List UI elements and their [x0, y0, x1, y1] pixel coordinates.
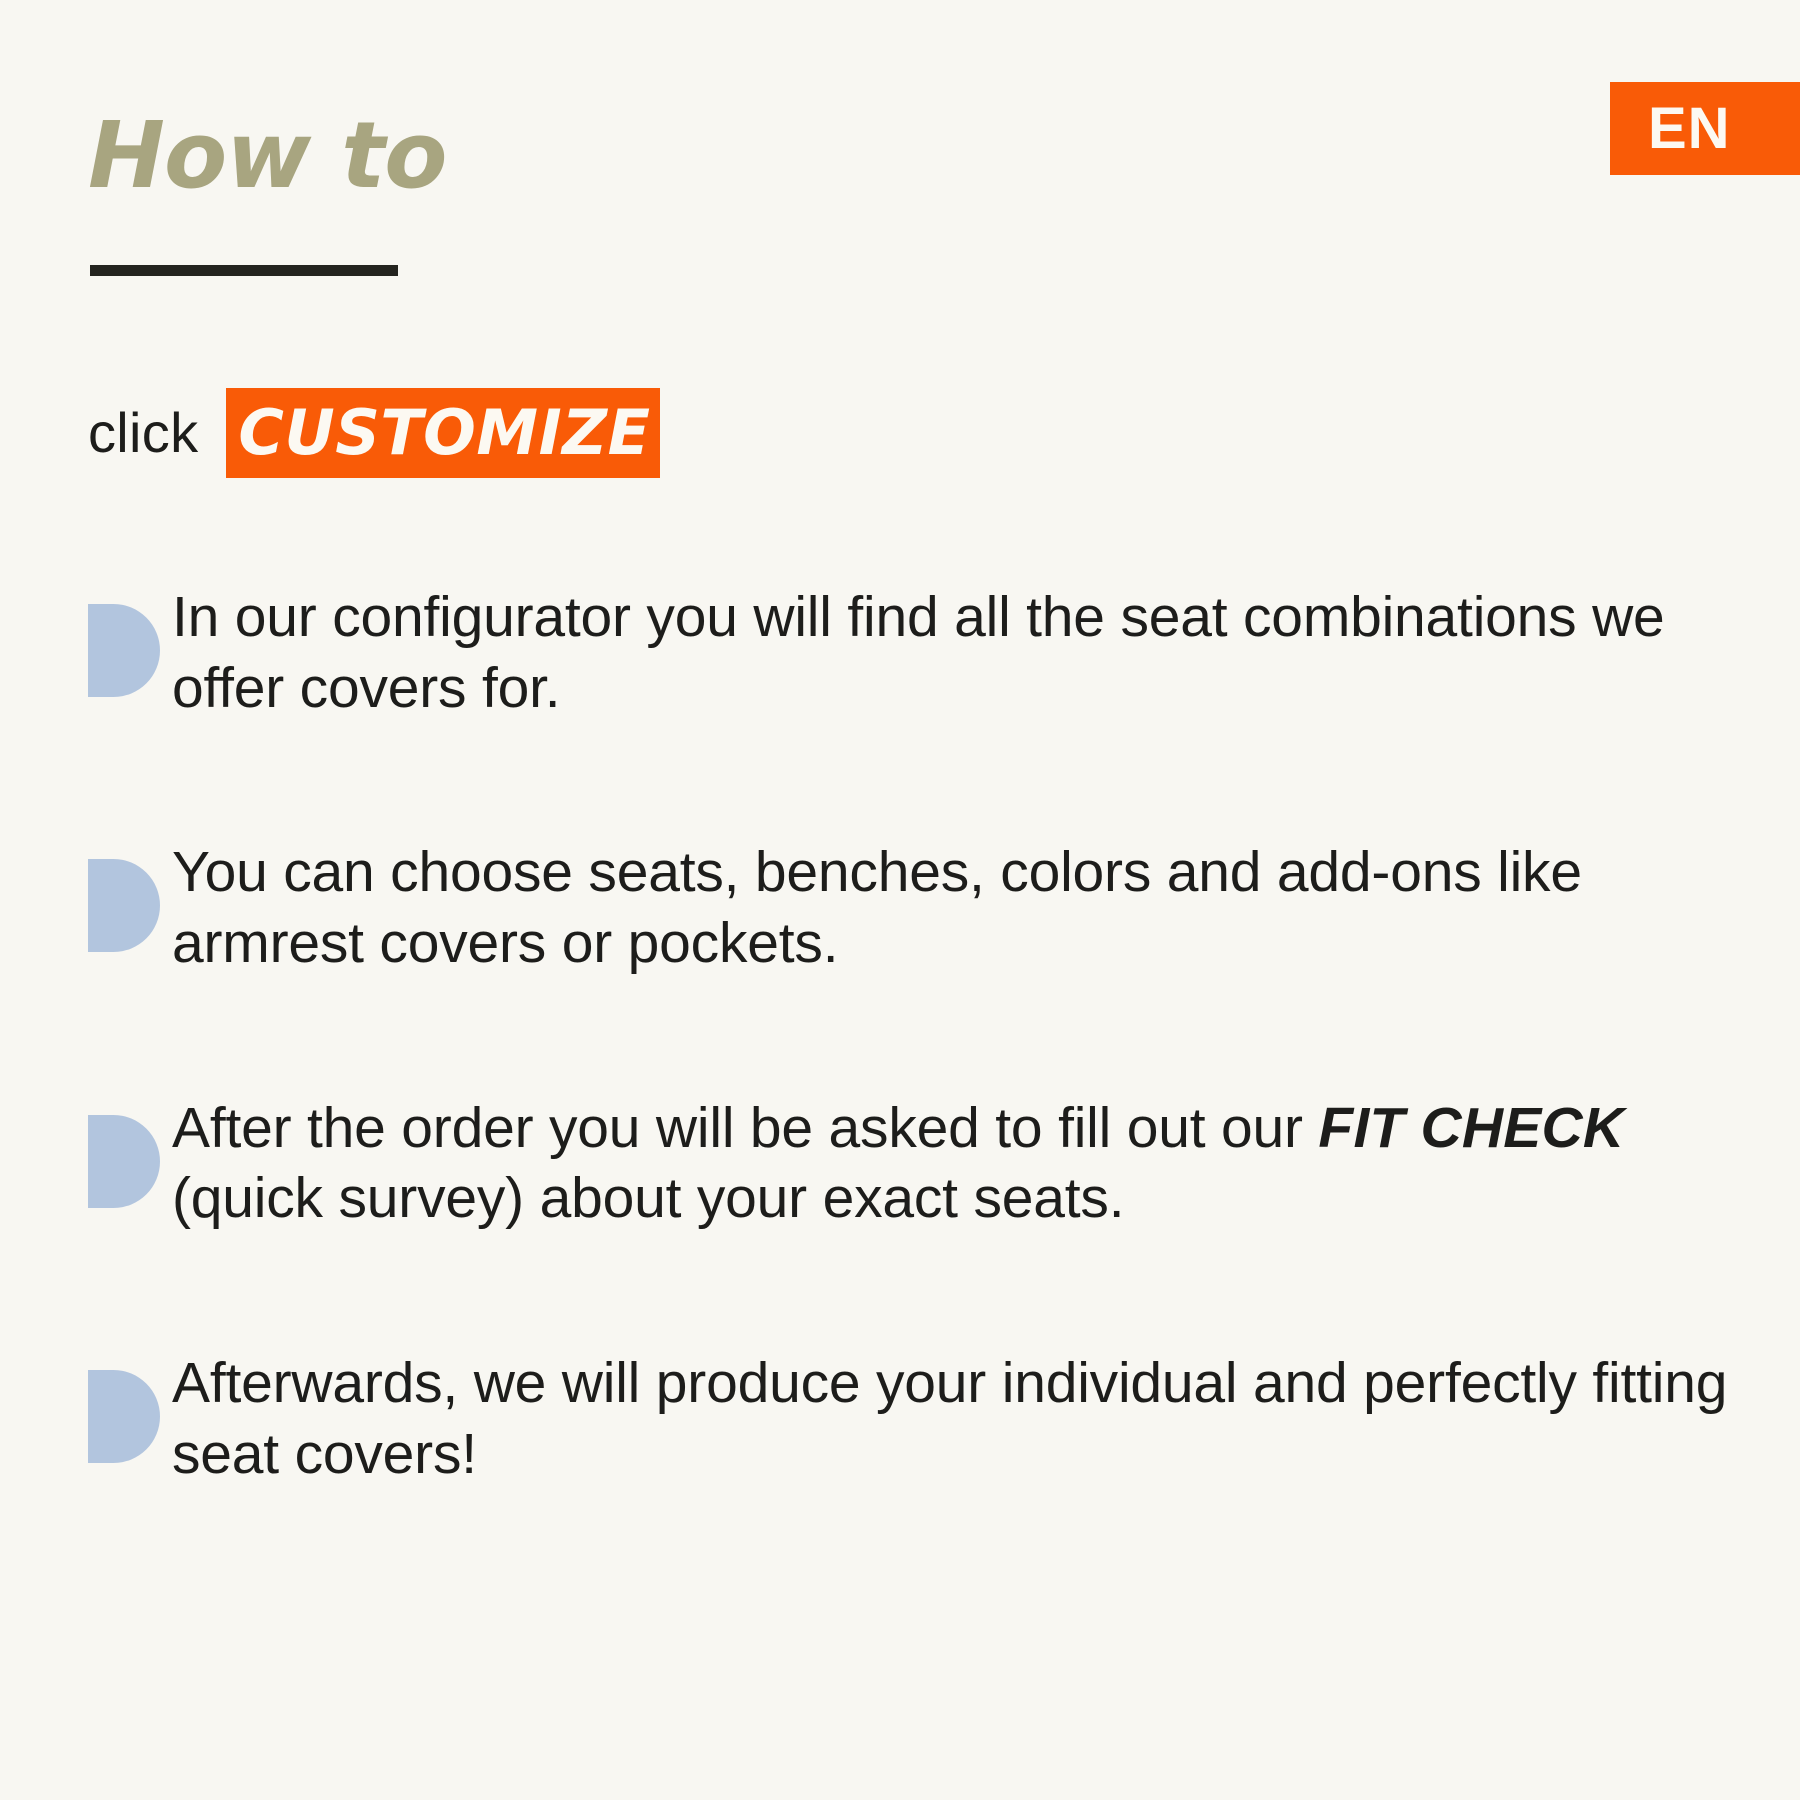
- customize-button-highlight[interactable]: CUSTOMIZE: [226, 388, 660, 478]
- d-shape-bullet-icon: [88, 1370, 160, 1463]
- list-item: Afterwards, we will produce your individ…: [88, 1348, 1728, 1489]
- list-item-text: After the order you will be asked to fil…: [172, 1093, 1728, 1234]
- page-title: How to: [88, 108, 446, 205]
- fit-check-emphasis: FIT CHECK: [1318, 1096, 1624, 1160]
- list-item: You can choose seats, benches, colors an…: [88, 837, 1728, 978]
- how-to-card: EN How to click CUSTOMIZE In our configu…: [0, 0, 1800, 1800]
- d-shape-bullet-icon: [88, 604, 160, 697]
- list-item: After the order you will be asked to fil…: [88, 1093, 1728, 1234]
- list-item-text: You can choose seats, benches, colors an…: [172, 837, 1728, 978]
- list-item-text: Afterwards, we will produce your individ…: [172, 1348, 1728, 1489]
- list-item-text: In our configurator you will find all th…: [172, 582, 1728, 723]
- page-title-text: How to: [88, 108, 446, 205]
- d-shape-bullet-icon: [88, 1115, 160, 1208]
- language-badge[interactable]: EN: [1610, 82, 1800, 175]
- callout-prefix-label: click: [88, 388, 226, 478]
- d-shape-bullet-icon: [88, 859, 160, 952]
- language-badge-label: EN: [1648, 100, 1731, 158]
- title-underline-rule: [90, 265, 398, 276]
- list-item-text-before: After the order you will be asked to fil…: [172, 1096, 1318, 1160]
- list-item: In our configurator you will find all th…: [88, 582, 1728, 723]
- how-to-steps-list: In our configurator you will find all th…: [88, 582, 1728, 1489]
- list-item-text-after: (quick survey) about your exact seats.: [172, 1166, 1124, 1230]
- customize-callout: click CUSTOMIZE: [88, 388, 660, 478]
